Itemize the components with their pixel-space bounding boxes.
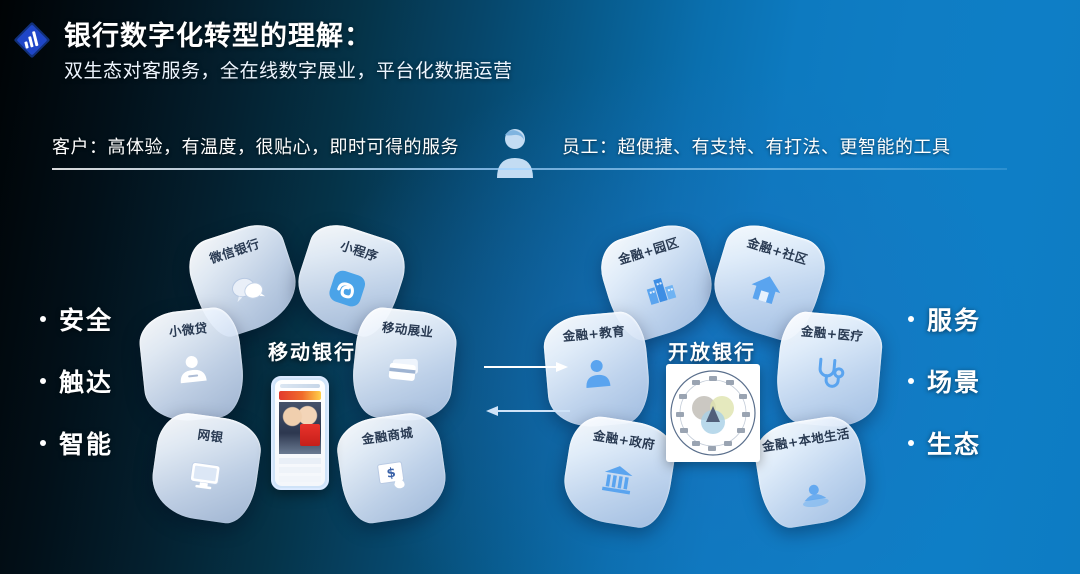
bullet-dot-icon: [908, 378, 914, 384]
phone-mockup: [271, 376, 329, 490]
right-bullet-label: 场景: [927, 363, 981, 399]
list-item: 服务: [908, 288, 981, 350]
petal-online-bank[interactable]: 网银: [147, 409, 264, 526]
list-item: 生态: [908, 412, 981, 474]
petal-finance-government[interactable]: 金融+政府: [559, 412, 680, 531]
bullet-dot-icon: [908, 316, 914, 322]
bullet-dot-icon: [40, 378, 46, 384]
bullet-dot-icon: [908, 440, 914, 446]
petal-financial-mall[interactable]: 金融商城 $: [333, 409, 450, 526]
house-icon: [745, 267, 787, 309]
left-bullet-label: 触达: [59, 363, 113, 399]
shopping-dollar-icon: $: [374, 456, 412, 494]
customer-value-text: 客户：高体验，有温度，很贴心，即时可得的服务: [52, 133, 459, 159]
list-item: 安全: [40, 288, 113, 350]
cluster-connectors: [482, 358, 572, 420]
left-bullet-label: 安全: [59, 301, 113, 337]
petal-label: 金融+社区: [726, 229, 830, 274]
open-banking-cluster: 金融+园区 金融+社区: [532, 228, 892, 528]
petal-micro-loan[interactable]: 小微贷: [137, 305, 248, 425]
list-item: 触达: [40, 350, 113, 412]
petal-label: 金融商城: [335, 421, 440, 450]
band-divider: [52, 168, 1007, 170]
left-cluster-title: 移动银行: [132, 336, 492, 365]
petal-label: 微信银行: [185, 228, 285, 273]
mini-program-icon: [326, 267, 369, 310]
petal-finance-local-life[interactable]: 金融+本地生活: [751, 412, 872, 531]
employee-value-text: 员工：超便捷、有支持、有打法、更智能的工具: [562, 133, 951, 159]
petal-mobile-business[interactable]: 移动展业: [349, 305, 460, 425]
petal-label: 网银: [158, 421, 263, 450]
bullet-dot-icon: [40, 440, 46, 446]
government-bank-icon: [598, 459, 637, 498]
local-life-icon: [795, 475, 834, 514]
slide-canvas: 银行数字化转型的理解： 双生态对客服务，全在线数字展业，平台化数据运营 客户：高…: [0, 0, 1080, 574]
right-benefit-list: 服务 场景 生态: [908, 288, 981, 474]
wechat-chat-bubble-icon: [225, 267, 268, 310]
petal-label: 小程序: [310, 228, 410, 273]
list-item: 智能: [40, 412, 113, 474]
phone-banner: [279, 391, 321, 400]
petal-label: 金融+园区: [597, 229, 701, 274]
phone-promo-tile: [300, 424, 320, 446]
page-subtitle: 双生态对客服务，全在线数字展业，平台化数据运营: [64, 56, 513, 83]
buildings-icon: [639, 267, 681, 309]
petal-label: 金融+本地生活: [752, 424, 859, 455]
petal-finance-medical[interactable]: 金融+医疗: [773, 310, 884, 430]
petal-label: 金融+政府: [571, 424, 678, 455]
audience-band: 客户：高体验，有温度，很贴心，即时可得的服务 员工：超便捷、有支持、有打法、更智…: [52, 130, 1012, 174]
right-bullet-label: 生态: [927, 425, 981, 461]
left-benefit-list: 安全 触达 智能: [40, 288, 113, 474]
right-bullet-label: 服务: [927, 301, 981, 337]
arrow-left-icon: [486, 406, 570, 416]
monitor-icon: [186, 456, 224, 494]
page-title: 银行数字化转型的理解：: [64, 14, 372, 53]
diamond-bars-logo-icon: [12, 20, 52, 60]
phone-status-bar: [280, 384, 320, 388]
phone-content-rows: [279, 458, 321, 482]
svg-text:$: $: [386, 466, 397, 482]
person-icon: [490, 126, 540, 178]
right-cluster-title: 开放银行: [532, 336, 892, 365]
phone-screen: [275, 380, 325, 486]
mobile-banking-cluster: 微信银行 小程序 小微贷: [132, 228, 492, 528]
list-item: 场景: [908, 350, 981, 412]
left-bullet-label: 智能: [59, 425, 113, 461]
bullet-dot-icon: [40, 316, 46, 322]
ecosystem-wheel-diagram: [666, 364, 760, 462]
